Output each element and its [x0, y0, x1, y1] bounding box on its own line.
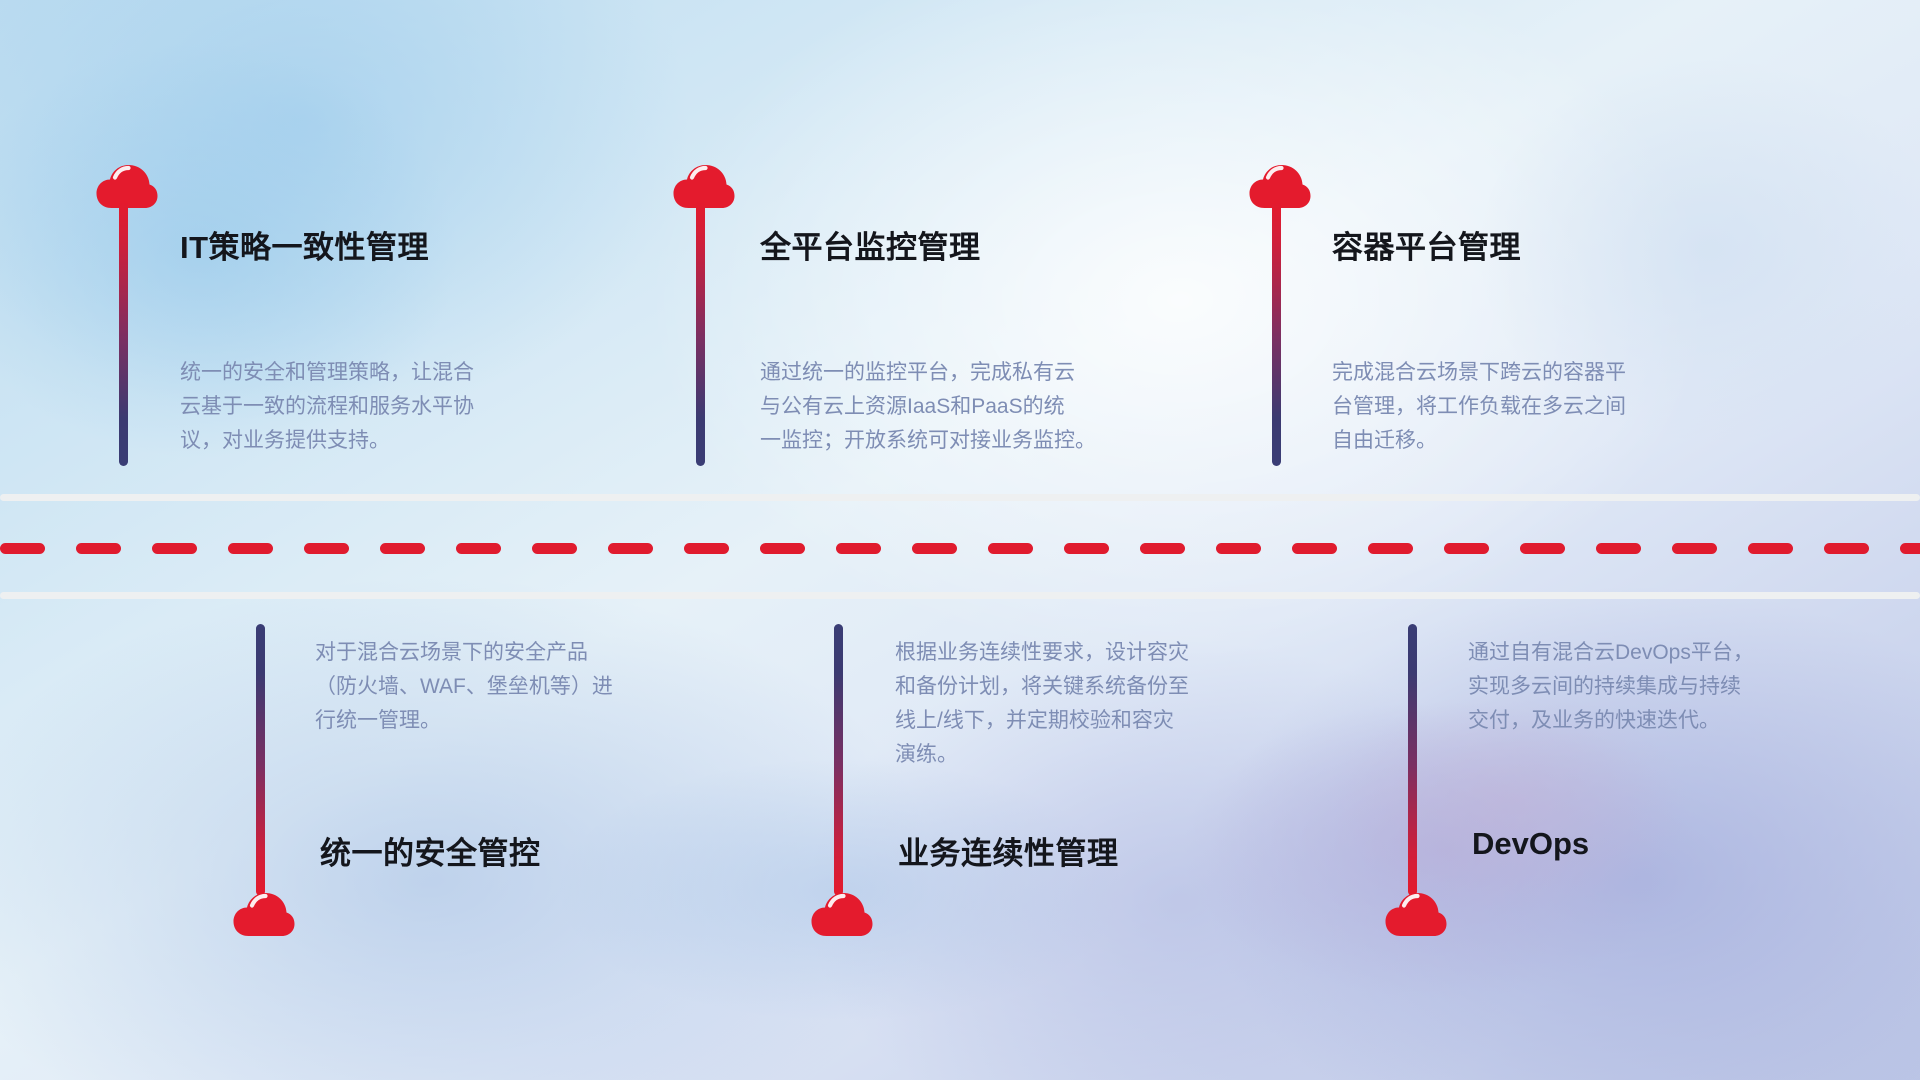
divider-dash [1824, 543, 1869, 554]
connector-line [1272, 200, 1281, 466]
cloud-icon [232, 890, 296, 938]
divider-dash [1368, 543, 1413, 554]
divider-dash [836, 543, 881, 554]
top-body-1: 统一的安全和管理策略，让混合 云基于一致的流程和服务水平协 议，对业务提供支持。 [180, 356, 600, 458]
top-heading-1: IT策略一致性管理 [180, 222, 429, 267]
top-body-3: 完成混合云场景下跨云的容器平 台管理，将工作负载在多云之间 自由迁移。 [1332, 356, 1752, 458]
connector-line [696, 200, 705, 466]
divider-dash [152, 543, 197, 554]
divider-dash [1444, 543, 1489, 554]
bottom-body-3: 通过自有混合云DevOps平台， 实现多云间的持续集成与持续 交付，及业务的快速… [1468, 636, 1888, 738]
bottom-heading-1: 统一的安全管控 [320, 828, 541, 873]
divider-dash [1596, 543, 1641, 554]
divider-dash [532, 543, 577, 554]
divider-dash [684, 543, 729, 554]
bottom-heading-3: DevOps [1472, 826, 1589, 862]
divider-dash [228, 543, 273, 554]
divider-dash [0, 543, 45, 554]
divider-rule-bottom [0, 592, 1920, 599]
divider-dash [1292, 543, 1337, 554]
divider-dash [1748, 543, 1793, 554]
divider-dash [1520, 543, 1565, 554]
connector-line [1408, 624, 1417, 896]
divider-dash [1064, 543, 1109, 554]
divider-dash [1672, 543, 1717, 554]
top-heading-3: 容器平台管理 [1332, 222, 1521, 267]
connector-line [256, 624, 265, 896]
divider-dash [912, 543, 957, 554]
divider-dash [76, 543, 121, 554]
divider-dash [1900, 543, 1920, 554]
infographic-canvas: IT策略一致性管理 统一的安全和管理策略，让混合 云基于一致的流程和服务水平协 … [0, 0, 1920, 1080]
top-heading-2: 全平台监控管理 [760, 222, 981, 267]
connector-line [834, 624, 843, 896]
divider-dash [760, 543, 805, 554]
top-body-2: 通过统一的监控平台，完成私有云 与公有云上资源IaaS和PaaS的统 一监控；开… [760, 356, 1190, 458]
divider-rule-top [0, 494, 1920, 501]
divider-dash [608, 543, 653, 554]
cloud-icon [1384, 890, 1448, 938]
divider-dash [380, 543, 425, 554]
cloud-icon [810, 890, 874, 938]
dashed-divider [0, 543, 1920, 554]
connector-line [119, 200, 128, 466]
divider-dash [1216, 543, 1261, 554]
divider-dash [456, 543, 501, 554]
bottom-heading-2: 业务连续性管理 [898, 828, 1119, 873]
divider-dash [304, 543, 349, 554]
divider-dash [1140, 543, 1185, 554]
divider-dash [988, 543, 1033, 554]
bottom-body-2: 根据业务连续性要求，设计容灾 和备份计划，将关键系统备份至 线上/线下，并定期校… [895, 636, 1315, 772]
bottom-body-1: 对于混合云场景下的安全产品 （防火墙、WAF、堡垒机等）进 行统一管理。 [315, 636, 735, 738]
